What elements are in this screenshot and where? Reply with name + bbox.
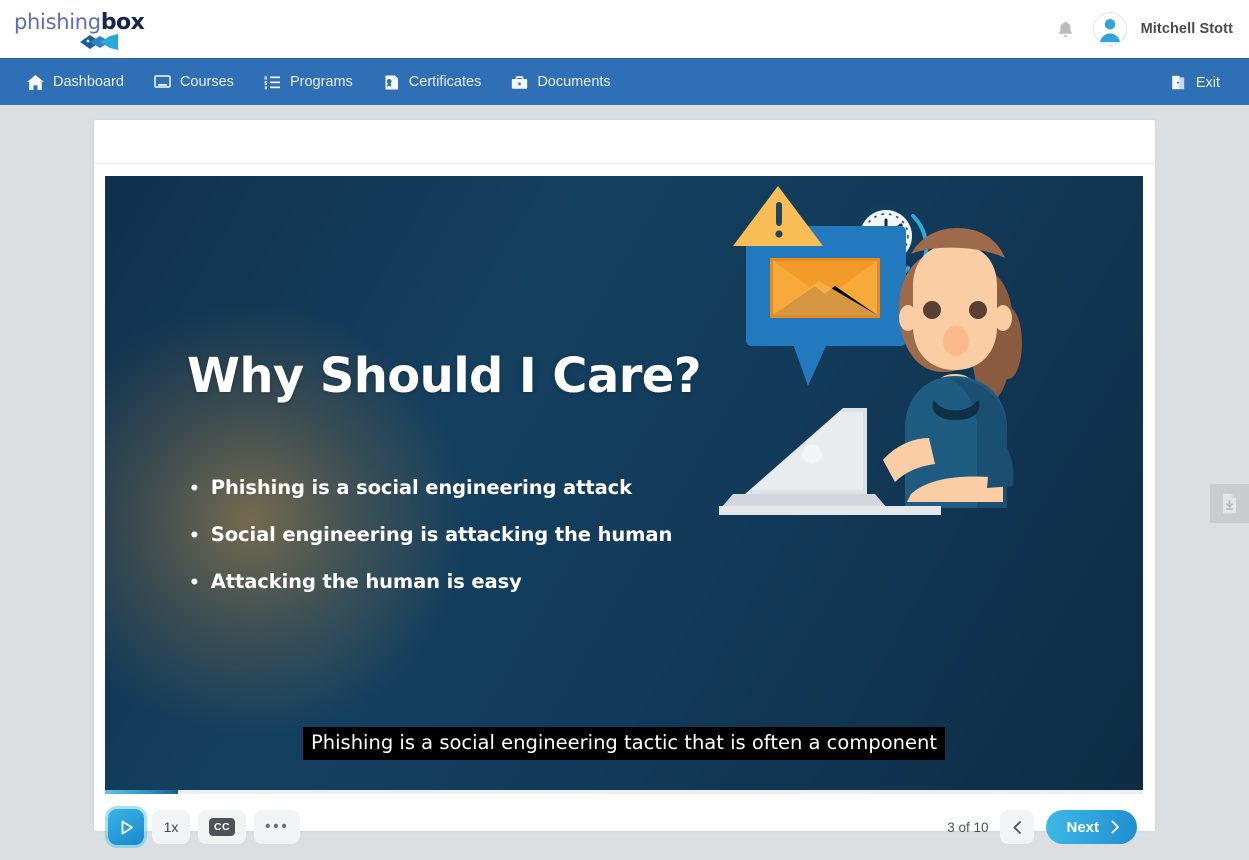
bullet-text: Attacking the human is easy (211, 570, 522, 593)
nav-item-exit[interactable]: Exit (1155, 59, 1235, 106)
next-slide-button[interactable]: Next (1046, 810, 1137, 844)
briefcase-icon (511, 74, 528, 91)
nav-label-certificates: Certificates (409, 74, 482, 90)
player-controls: 1x CC ••• 3 of 10 Next (94, 794, 1155, 860)
playback-speed-button[interactable]: 1x (152, 810, 190, 844)
certificate-icon (383, 74, 400, 91)
course-player-card: Why Should I Care? • Phishing is a socia… (94, 120, 1155, 831)
slide-viewport: Why Should I Care? • Phishing is a socia… (94, 164, 1155, 790)
nav-label-exit: Exit (1196, 75, 1220, 91)
bullet-marker: • (189, 481, 200, 498)
player-controls-right: 3 of 10 Next (947, 810, 1137, 844)
woman-at-laptop-illustration (715, 178, 1065, 528)
bullet-text: Phishing is a social engineering attack (211, 476, 632, 499)
slide-pager-label: 3 of 10 (947, 820, 988, 835)
play-icon (118, 819, 135, 836)
nav-item-dashboard[interactable]: Dashboard (12, 59, 139, 106)
notifications-button[interactable] (1053, 16, 1079, 42)
chevron-right-icon (1109, 820, 1121, 834)
phishingbox-logo[interactable]: phishingbox (14, 6, 126, 52)
nav-item-courses[interactable]: Courses (139, 59, 249, 106)
nav-label-programs: Programs (290, 74, 353, 90)
app-header: phishingbox Mitchell Stott (0, 0, 1249, 58)
download-side-tab[interactable] (1210, 484, 1249, 523)
list-ol-icon (264, 74, 281, 91)
list-item: • Attacking the human is easy (189, 570, 672, 593)
bullet-text: Social engineering is attacking the huma… (211, 523, 672, 546)
exit-door-icon (1170, 74, 1187, 91)
fish-icon (66, 32, 122, 52)
bell-icon (1057, 20, 1074, 39)
chevron-left-icon (1011, 820, 1024, 835)
nav-item-certificates[interactable]: Certificates (368, 59, 497, 106)
nav-label-documents: Documents (537, 74, 610, 90)
nav-item-programs[interactable]: Programs (249, 59, 368, 106)
bullet-marker: • (189, 575, 200, 592)
more-options-button[interactable]: ••• (254, 810, 300, 844)
slide-bullet-list: • Phishing is a social engineering attac… (189, 476, 672, 617)
previous-slide-button[interactable] (1000, 810, 1034, 844)
slide-canvas[interactable]: Why Should I Care? • Phishing is a socia… (105, 176, 1143, 790)
nav-label-dashboard: Dashboard (53, 74, 124, 90)
user-name-label: Mitchell Stott (1141, 21, 1233, 37)
main-navbar: Dashboard Courses (0, 58, 1249, 105)
avatar[interactable] (1093, 12, 1127, 46)
next-button-label: Next (1066, 819, 1099, 836)
slide-caption: Phishing is a social engineering tactic … (303, 727, 945, 760)
list-item: • Social engineering is attacking the hu… (189, 523, 672, 546)
header-right-group: Mitchell Stott (1053, 0, 1233, 58)
home-icon (27, 74, 44, 91)
nav-item-documents[interactable]: Documents (496, 59, 625, 106)
user-avatar-icon (1094, 12, 1126, 45)
nav-label-courses: Courses (180, 74, 234, 90)
player-controls-left: 1x CC ••• (108, 809, 300, 845)
bullet-marker: • (189, 528, 200, 545)
captions-button[interactable]: CC (198, 810, 246, 844)
nav-items-group: Dashboard Courses (0, 59, 626, 106)
nav-right-group: Exit (1155, 59, 1235, 106)
play-button[interactable] (108, 809, 144, 845)
chalkboard-icon (154, 74, 171, 91)
slide-title: Why Should I Care? (187, 348, 701, 404)
player-topbar (94, 120, 1155, 164)
file-download-icon (1221, 493, 1238, 514)
logo-word-phishing: phishing (14, 10, 101, 34)
closed-caption-icon: CC (209, 818, 235, 836)
list-item: • Phishing is a social engineering attac… (189, 476, 672, 499)
